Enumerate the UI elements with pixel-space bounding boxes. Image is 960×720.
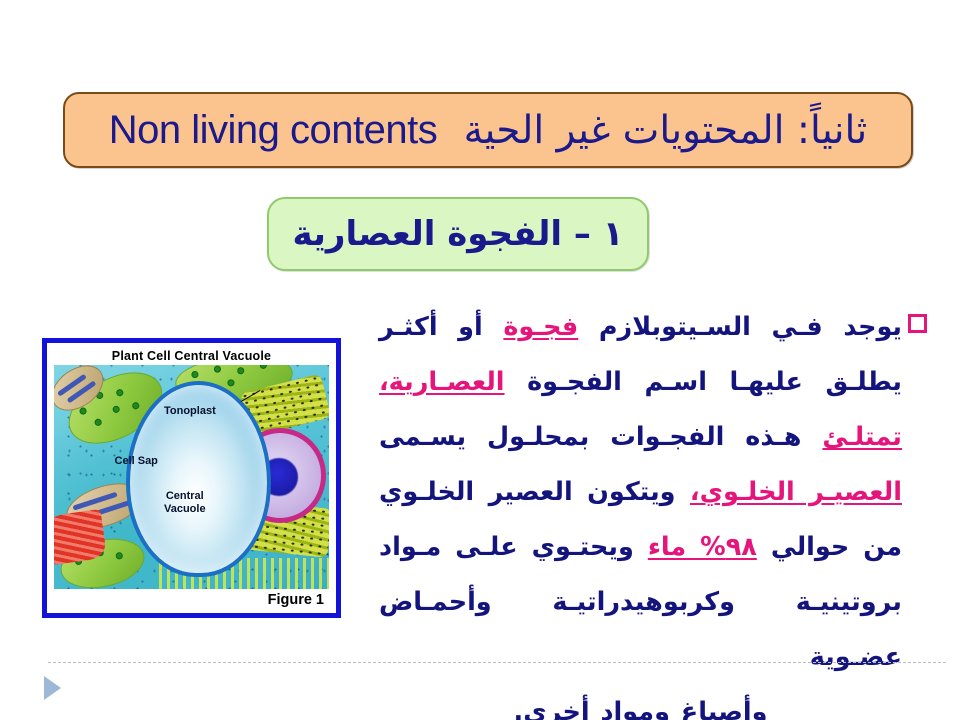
plant-cell-illustration: Tonoplast Cell Sap Central Vacuole bbox=[54, 365, 329, 589]
square-bullet-icon bbox=[908, 314, 927, 333]
figure-inner: Plant Cell Central Vacuole bbox=[50, 346, 333, 610]
label-central-vacuole-line1: Central bbox=[166, 490, 204, 502]
paragraph-run: يوجد فـي السـيتوبلازم bbox=[578, 312, 902, 342]
slide-canvas: ثانياً: المحتويات غير الحية Non living c… bbox=[0, 0, 960, 720]
slide-title-latin: Non living contents bbox=[109, 108, 451, 152]
slide-title-banner: ثانياً: المحتويات غير الحية Non living c… bbox=[63, 92, 913, 168]
body-text-block: يوجد فـي السـيتوبلازم فجـوة أو أكثـر يطل… bbox=[379, 300, 927, 720]
paragraph-last-line: وأصباغ ومواد أخرى. bbox=[379, 685, 902, 720]
slide-subtitle-text: ١ – الفجوة العصارية bbox=[293, 217, 624, 251]
label-central-vacuole: Central Vacuole bbox=[164, 490, 206, 514]
slide-subtitle-banner: ١ – الفجوة العصارية bbox=[267, 197, 649, 271]
highlighted-term: تمتلـئ bbox=[822, 422, 902, 452]
paragraph-text: يوجد فـي السـيتوبلازم فجـوة أو أكثـر يطل… bbox=[379, 300, 902, 720]
paragraph-run: هـذه الفجـوات بمحلـول يسـمى bbox=[379, 422, 822, 452]
figure-caption-top: Plant Cell Central Vacuole bbox=[50, 346, 333, 365]
highlighted-term: العصـارية، bbox=[379, 367, 505, 397]
label-tonoplast: Tonoplast bbox=[164, 405, 216, 417]
highlighted-term: ٩٨% ماء bbox=[648, 532, 757, 562]
slide-title-text: ثانياً: المحتويات غير الحية Non living c… bbox=[109, 110, 868, 150]
bullet-paragraph: يوجد فـي السـيتوبلازم فجـوة أو أكثـر يطل… bbox=[379, 300, 927, 720]
figure-panel: Plant Cell Central Vacuole bbox=[42, 338, 341, 618]
slide-title-arabic: ثانياً: المحتويات غير الحية bbox=[464, 108, 868, 153]
label-cell-sap: Cell Sap bbox=[115, 455, 158, 467]
highlighted-term: العصيـر الخلـوي، bbox=[690, 477, 902, 507]
label-central-vacuole-line2: Vacuole bbox=[164, 503, 206, 515]
play-triangle-icon[interactable] bbox=[44, 676, 61, 700]
figure-caption-bottom: Figure 1 bbox=[50, 589, 333, 610]
footer-divider bbox=[48, 662, 946, 663]
paragraph-runs: يوجد فـي السـيتوبلازم فجـوة أو أكثـر يطل… bbox=[379, 312, 902, 672]
highlighted-term: فجـوة bbox=[503, 312, 578, 342]
